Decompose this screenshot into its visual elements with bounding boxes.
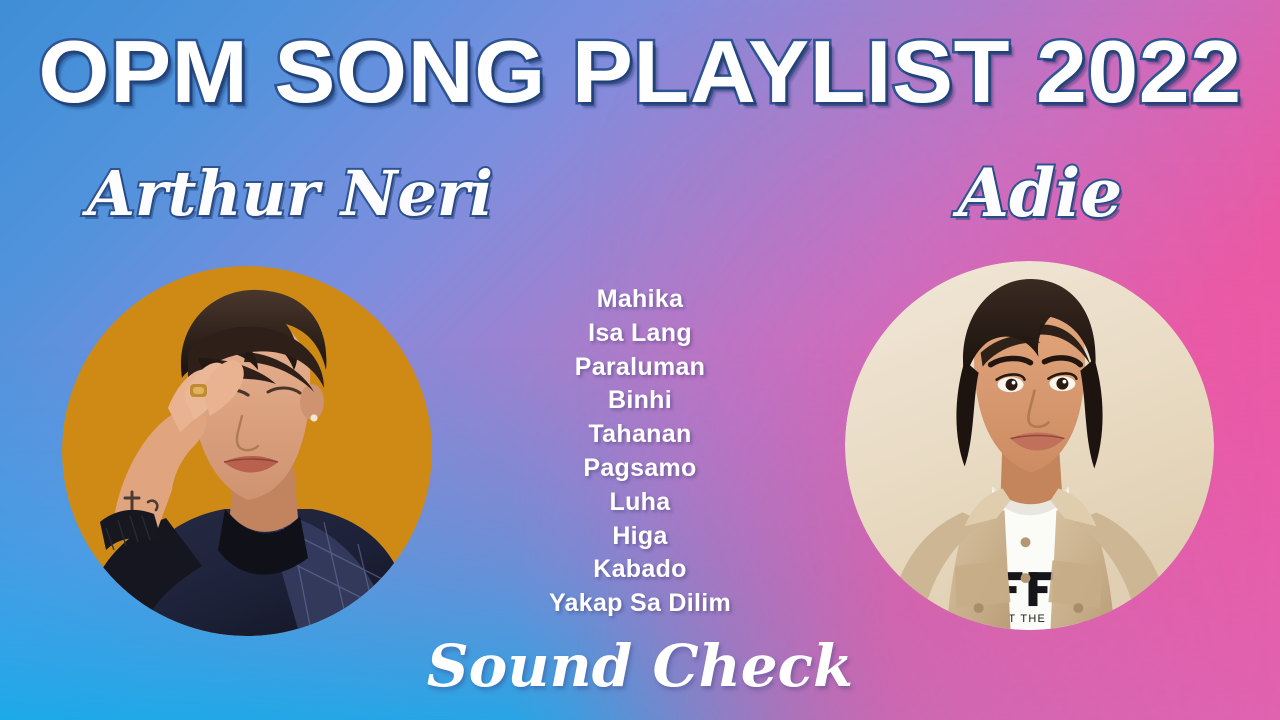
- track-item: Luha: [440, 486, 840, 520]
- artist-photo-right: AT THE MOMENT: [845, 261, 1214, 630]
- thumbnail-canvas: OPM SONG PLAYLIST 2022 Arthur Neri Adie: [0, 0, 1280, 720]
- tracklist: Mahika Isa Lang Paraluman Binhi Tahanan …: [440, 283, 840, 621]
- track-item: Yakap Sa Dilim: [440, 587, 840, 621]
- artist-photo-left: [62, 266, 432, 636]
- footer-label: Sound Check: [0, 637, 1280, 695]
- track-item: Higa: [440, 520, 840, 554]
- track-item: Tahanan: [440, 418, 840, 452]
- artist-name-left: Arthur Neri: [70, 163, 510, 225]
- track-item: Binhi: [440, 384, 840, 418]
- track-item: Isa Lang: [440, 317, 840, 351]
- track-item: Pagsamo: [440, 452, 840, 486]
- track-item: Paraluman: [440, 351, 840, 385]
- page-title: OPM SONG PLAYLIST 2022: [0, 28, 1280, 116]
- track-item: Kabado: [440, 553, 840, 587]
- artist-name-right: Adie: [880, 160, 1200, 226]
- track-item: Mahika: [440, 283, 840, 317]
